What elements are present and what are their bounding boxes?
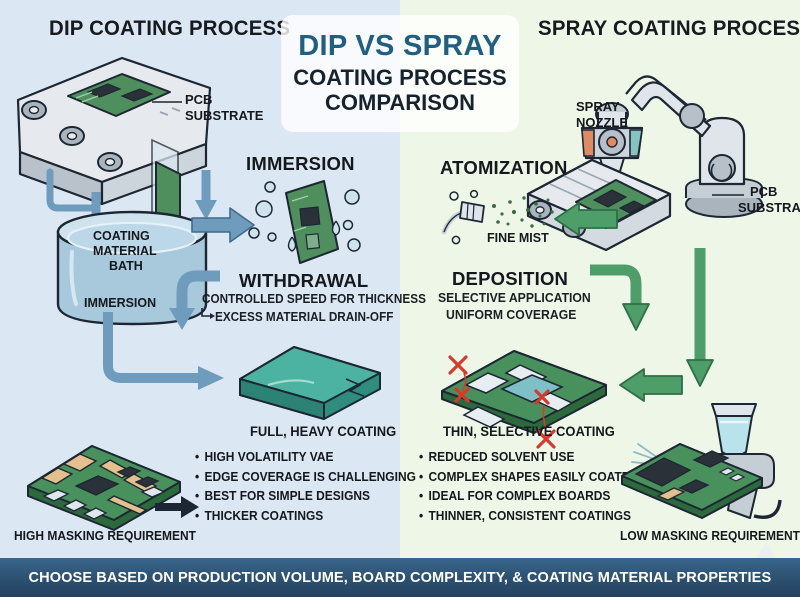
arrow-conveyor-down-right [678,248,724,390]
label-bath-line3: BATH [109,259,143,273]
deposition-sub-selective-application: SELECTIVE APPLICATION [438,290,591,305]
list-item: THINNER, CONSISTENT COATINGS [419,507,638,527]
list-item: HIGH VOLATILITY VAE [195,448,416,468]
title-subtitle-line2: COMPARISON [325,90,475,115]
thin-selective-coating-board [428,335,618,435]
title-card: DIP VS SPRAY COATING PROCESS COMPARISON [281,15,519,132]
deposition-sub-uniform-coverage: UNIFORM COVERAGE [446,307,576,322]
step-deposition: DEPOSITION [452,268,568,290]
title-main: DIP VS SPRAY [298,32,501,61]
leader-line-pcb-right [712,192,746,198]
label-pcb-substrate-left-line2: SUBSTRATE [185,108,263,123]
infographic-root: DIP COATING PROCESS SPRAY COATING PROCES… [0,0,800,597]
label-bath-line1: COATING [93,229,150,243]
leader-line-pcb-left [152,99,184,105]
arrow-masking-to-bullets [155,495,201,519]
list-item: EDGE COVERAGE IS CHALLENGING [195,468,416,488]
list-item: BEST FOR SIMPLE DESIGNS [195,487,416,507]
label-spray-nozzle-line1: SPRAY [576,99,620,114]
arrow-deposition-curve [588,258,660,336]
label-bath-line2: MATERIAL [93,244,157,258]
banner-text: CHOOSE BASED ON PRODUCTION VOLUME, BOARD… [29,569,772,586]
list-item: THICKER COATINGS [195,507,416,527]
withdrawal-sub-controlled-speed: CONTROLLED SPEED FOR THICKNESS [202,292,426,306]
immersion-bubbles-illustration [248,175,368,270]
arrow-conveyor-to-atomization [553,202,619,236]
label-pcb-substrate-right-line2: SUBSTRATE [738,200,800,215]
title-subtitle-line1: COATING PROCESS [293,65,507,90]
header-spray-coating-process: SPRAY COATING PROCESS [538,16,800,41]
caption-immersion-bath: IMMERSION [84,295,156,310]
header-dip-coating-process: DIP COATING PROCESS [49,16,290,41]
step-withdrawal: WITHDRAWAL [239,270,368,292]
label-pcb-substrate-left-line1: PCB [185,92,212,107]
withdrawal-sub-excess-drain: EXCESS MATERIAL DRAIN-OFF [215,310,393,324]
list-item: COMPLEX SHAPES EASILY COATED [419,468,638,488]
step-immersion: IMMERSION [246,153,355,175]
caption-high-masking-requirement: HIGH MASKING REQUIREMENT [14,529,196,543]
low-masking-spraygun-illustration [616,400,796,528]
caption-fine-mist: FINE MIST [487,230,549,245]
arrow-immersion-to-coating [100,312,230,396]
caption-full-heavy-coating: FULL, HEAVY COATING [250,424,396,439]
list-item: IDEAL FOR COMPLEX BOARDS [419,487,638,507]
step-atomization: ATOMIZATION [440,157,568,179]
bottom-banner: CHOOSE BASED ON PRODUCTION VOLUME, BOARD… [0,558,800,597]
dip-benefits-list: HIGH VOLATILITY VAE EDGE COVERAGE IS CHA… [195,448,428,526]
label-pcb-substrate-right-line1: PCB [750,184,777,199]
list-item: REDUCED SOLVENT USE [419,448,638,468]
label-spray-nozzle-line2: NOZZLE [576,115,628,130]
full-heavy-coating-slab [228,333,388,423]
arrow-into-thin-coating [618,368,684,402]
caption-thin-selective-coating: THIN, SELECTIVE COATING [443,424,615,439]
